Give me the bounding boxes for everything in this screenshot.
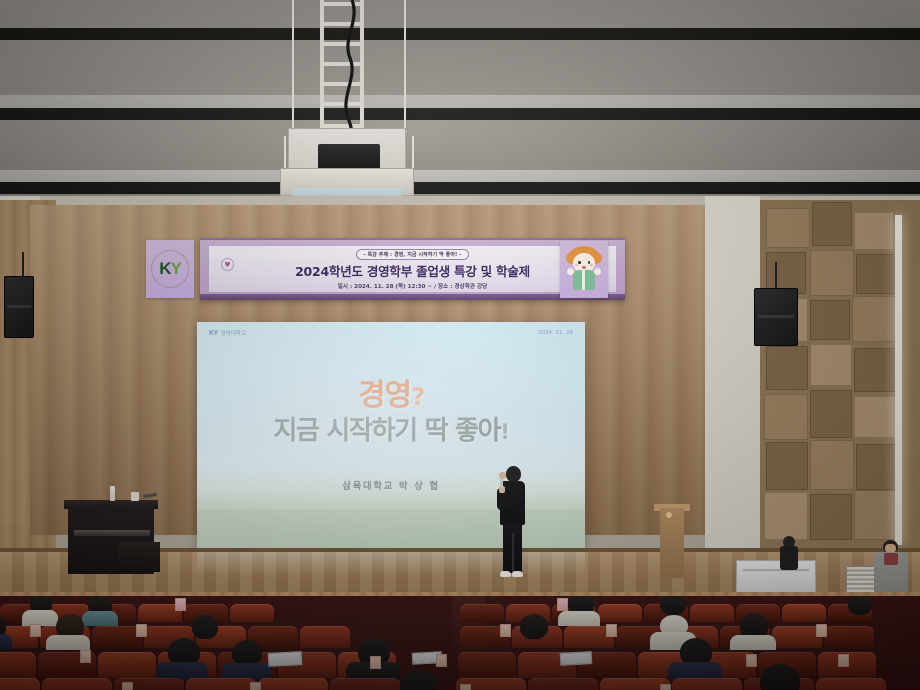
projector-power-cable (336, 0, 366, 135)
logo-letter-k: K (159, 259, 170, 278)
paper-cup-icon (131, 492, 139, 501)
auditorium-photo: ♥ - 특강 주제 : 경영, 지금 시작하기 딱 좋아! - 2024학년도 … (0, 0, 920, 690)
right-speaker-icon (754, 288, 798, 346)
seat-tag (746, 654, 757, 667)
audience-head (760, 664, 800, 690)
audience-head (660, 596, 686, 615)
standing-staff (872, 540, 910, 600)
seat-tag (838, 654, 849, 667)
wooden-podium (660, 508, 684, 578)
seat-tag (557, 598, 568, 611)
seat-tag (122, 682, 133, 690)
podium-knob (666, 512, 672, 518)
seat-tag (500, 624, 511, 637)
heart-icon: ♥ (221, 258, 234, 271)
av-control-desk (736, 560, 816, 594)
slide-title-question-mark: ? (411, 383, 424, 411)
banner-title: 2024학년도 경영학부 졸업생 특강 및 학술제 (295, 261, 530, 280)
seat[interactable] (672, 678, 742, 690)
audience-head (192, 615, 218, 639)
slide-header: KY 경영대학교 2024. 11. 28 (197, 322, 585, 344)
university-logo: KY (146, 240, 194, 298)
clicker-icon (500, 479, 503, 488)
seat[interactable] (330, 678, 400, 690)
slide-logo-glyph: KY (209, 330, 218, 337)
slide-title-exclamation-mark: ! (500, 420, 508, 444)
slide-title-line2: 지금 시작하기 딱 좋아! (197, 410, 585, 447)
banner-subtitle: - 특강 주제 : 경영, 지금 시작하기 딱 좋아! - (356, 249, 470, 260)
audience-head (520, 614, 548, 639)
seat-tag (816, 624, 827, 637)
seat-row-front (0, 668, 920, 690)
slide-logo-name: 경영대학교 (221, 329, 246, 337)
piano-bench (118, 542, 160, 572)
ceiling-vignette (0, 0, 920, 215)
seat-tag (606, 624, 617, 637)
seat-tag (250, 682, 261, 690)
slide-date: 2024. 11. 28 (538, 330, 573, 336)
water-bottle-icon (110, 486, 115, 501)
left-speaker-icon (4, 276, 34, 338)
speaker-cable (22, 252, 24, 278)
desk-operator (778, 536, 800, 568)
right-white-wall (705, 196, 760, 556)
speaker-cable (775, 262, 777, 288)
seat-tag (460, 684, 471, 690)
piano-keyboard (74, 530, 150, 536)
seat-tag (436, 654, 447, 667)
presenter (496, 466, 530, 584)
seat[interactable] (186, 678, 256, 690)
audience-head (400, 670, 438, 690)
seat[interactable] (528, 678, 598, 690)
wall-light-slit (895, 215, 902, 545)
seat-tag (30, 624, 41, 637)
seat[interactable] (816, 678, 886, 690)
slide-title-line1: 경영? (197, 370, 585, 414)
audience-head (848, 596, 872, 615)
banner-meta: 일시 : 2024. 11. 28 (목) 12:30 ~ / 장소 : 경상학… (338, 282, 488, 290)
seat[interactable] (0, 678, 40, 690)
seat-tag (136, 624, 147, 637)
seat-tag (175, 598, 186, 611)
seat-row-2 (0, 616, 920, 640)
handout-paper (560, 651, 593, 666)
projector-hanger-wire (292, 0, 294, 132)
mascot-character-icon (560, 241, 608, 298)
seat-tag (660, 684, 671, 690)
projector-hanger-wire (404, 0, 406, 132)
audience-seating (0, 596, 920, 690)
seat[interactable] (258, 678, 328, 690)
seat-tag (80, 650, 91, 663)
seat[interactable] (42, 678, 112, 690)
handout-paper (268, 651, 303, 667)
logo-letter-y: Y (170, 259, 180, 278)
